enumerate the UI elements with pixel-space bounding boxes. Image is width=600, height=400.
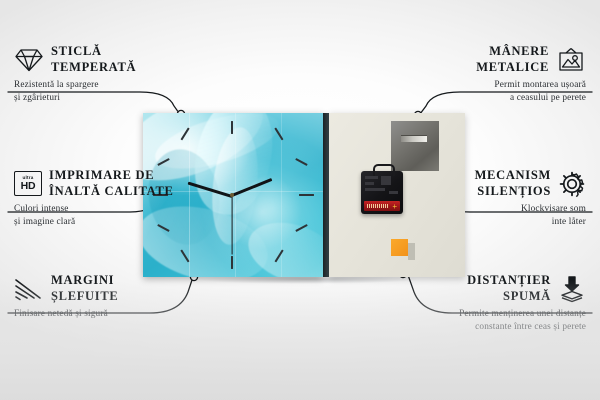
diagonal-lines-icon: [14, 277, 44, 301]
feature-title: IMPRIMARE DE ÎNALTĂ CALITATE: [49, 168, 174, 199]
arrow-press-layer-icon: [558, 275, 586, 303]
diamond-icon: [14, 47, 44, 73]
metal-hanger-plate: [391, 121, 439, 171]
feature-tempered-glass: STICLĂ TEMPERATĂ Rezistentă la spargere …: [14, 44, 194, 104]
clock-center-cap: [230, 193, 234, 197]
ultra-hd-icon: ultra HD: [14, 171, 42, 196]
feature-high-quality-print: ultra HD IMPRIMARE DE ÎNALTĂ CALITATE Cu…: [14, 168, 204, 228]
feature-subtitle: Permit montarea ușoară a ceasului pe per…: [406, 79, 586, 104]
feature-silent-mechanism: MECANISM SILENȚIOS Klockvisare som int: [396, 168, 586, 228]
foam-spacer: [391, 239, 408, 256]
feature-title: DISTANȚIER SPUMĂ: [467, 273, 551, 304]
foam-spacer-shadow: [408, 243, 415, 260]
framed-picture-icon: [556, 46, 586, 73]
feature-title: MARGINI ȘLEFUITE: [51, 273, 118, 304]
feature-subtitle: Culori intense și imagine clară: [14, 203, 204, 228]
feature-title: MÂNERE METALICE: [476, 44, 549, 75]
feature-subtitle: Rezistentă la spargere și zgârieturi: [14, 79, 194, 104]
clock-second-hand: [231, 196, 232, 255]
gear-icon: [558, 170, 586, 198]
feature-subtitle: Finisare netedă și sigură: [14, 308, 199, 320]
feature-metal-handles: MÂNERE METALICE Permit montarea ușoară a…: [406, 44, 586, 104]
infographic-canvas: + STICLĂ TEMPERATĂ Rezistentă la sparge: [0, 0, 600, 400]
feature-title: MECANISM SILENȚIOS: [475, 168, 551, 199]
feature-polished-edges: MARGINI ȘLEFUITE Finisare netedă și sigu…: [14, 273, 199, 321]
feature-subtitle: Klockvisare som inte låter: [396, 203, 586, 228]
feature-foam-spacer: DISTANȚIER SPUMĂ Permite menținerea unei…: [386, 273, 586, 333]
feature-subtitle: Permite menținerea unei distanțe constan…: [386, 308, 586, 333]
feature-title: STICLĂ TEMPERATĂ: [51, 44, 136, 75]
clock-battery: +: [364, 201, 400, 211]
